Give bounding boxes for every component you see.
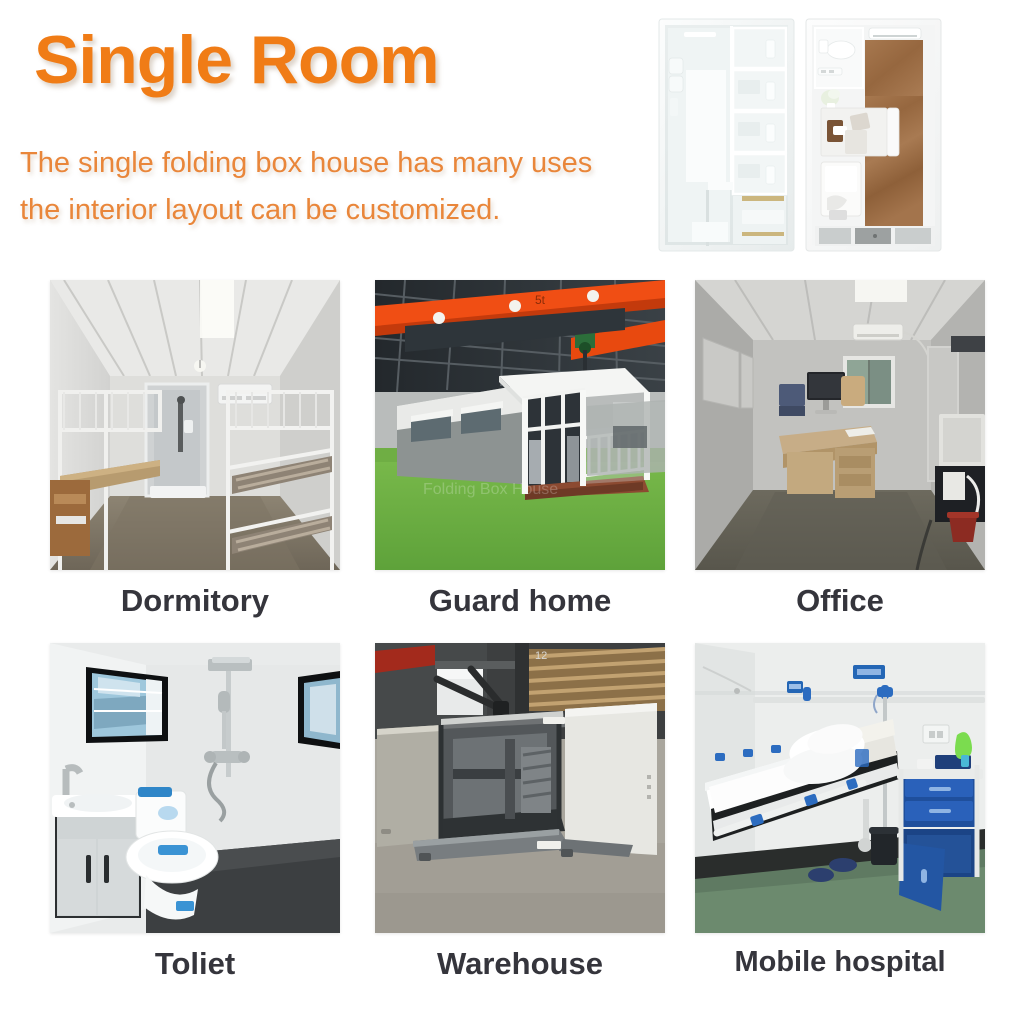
- gallery-item-mobile-hospital[interactable]: Mobile hospital: [695, 643, 985, 979]
- gallery-item-warehouse[interactable]: 12: [375, 643, 665, 981]
- warehouse-image: 12: [375, 643, 665, 933]
- toliet-image: [50, 643, 340, 933]
- guard-home-caption: Guard home: [375, 584, 665, 618]
- mobile-hospital-caption: Mobile hospital: [695, 947, 985, 979]
- gallery-item-office[interactable]: Office: [695, 280, 985, 618]
- office-photo[interactable]: [695, 280, 985, 570]
- svg-text:Folding Box House: Folding Box House: [423, 481, 558, 498]
- svg-text:5t: 5t: [535, 293, 546, 307]
- floorplan-bedroom-graphic: [803, 10, 946, 258]
- mobile-hospital-image: [695, 643, 985, 933]
- guard-home-photo[interactable]: 5t: [375, 280, 665, 570]
- subtitle-line-2: the interior layout can be customized.: [20, 187, 660, 234]
- dormitory-caption: Dormitory: [50, 584, 340, 618]
- gallery-item-toliet[interactable]: Toliet: [50, 643, 340, 981]
- page-title: Single Room: [34, 26, 439, 94]
- dormitory-photo[interactable]: [50, 280, 340, 570]
- page-subtitle: The single folding box house has many us…: [20, 140, 660, 234]
- toliet-photo[interactable]: [50, 643, 340, 933]
- office-caption: Office: [695, 584, 985, 618]
- floorplan-bathroom-graphic: [656, 10, 799, 258]
- gallery-item-dormitory[interactable]: Dormitory: [50, 280, 340, 618]
- svg-text:12: 12: [535, 650, 547, 662]
- header: Single Room The single folding box house…: [0, 0, 1020, 268]
- application-gallery: Dormitory: [0, 268, 1020, 1020]
- office-image: [695, 280, 985, 570]
- guard-home-image: 5t: [375, 280, 665, 570]
- gallery-item-guard-home[interactable]: 5t: [375, 280, 665, 618]
- warehouse-caption: Warehouse: [375, 947, 665, 981]
- floorplan-thumbnail-bathroom-layout[interactable]: [656, 10, 799, 258]
- toliet-caption: Toliet: [50, 947, 340, 981]
- subtitle-line-1: The single folding box house has many us…: [20, 140, 660, 187]
- warehouse-photo[interactable]: 12: [375, 643, 665, 933]
- dormitory-image: [50, 280, 340, 570]
- floorplan-thumbnail-bedroom-layout[interactable]: [803, 10, 946, 258]
- mobile-hospital-photo[interactable]: [695, 643, 985, 933]
